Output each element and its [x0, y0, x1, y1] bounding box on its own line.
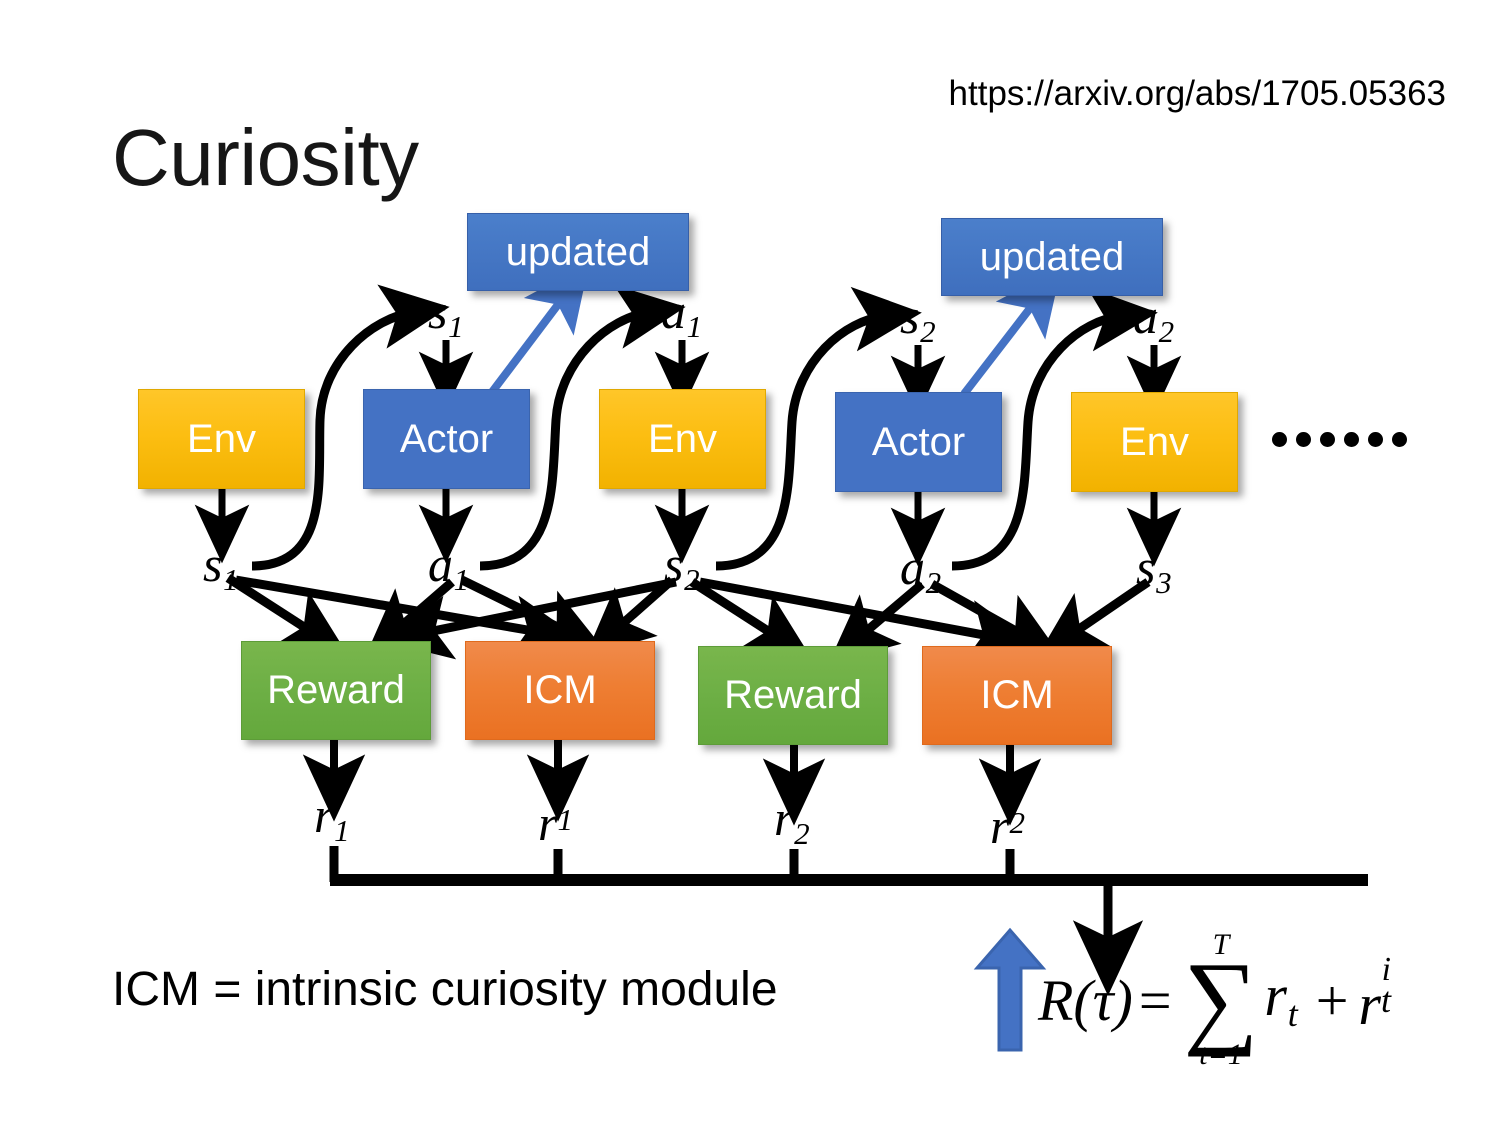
return-formula: R(τ) = T ∑ t=1 rt + rit: [1038, 930, 1405, 1070]
ellipsis-dot: [1344, 432, 1359, 447]
emphasis-up-arrow-icon: [977, 930, 1043, 1050]
ellipsis-dot: [1392, 432, 1407, 447]
formula-equals: =: [1133, 967, 1178, 1034]
legend-caption: ICM = intrinsic curiosity module: [112, 962, 778, 1017]
formula-term-intrinsic: rit: [1358, 966, 1405, 1034]
label-s2-mid: s2: [664, 539, 700, 595]
ellipsis-dot: [1272, 432, 1287, 447]
page-title: Curiosity: [112, 118, 419, 198]
slide-canvas: https://arxiv.org/abs/1705.05363 Curiosi…: [0, 0, 1500, 1125]
label-s1-top: s1: [428, 286, 464, 342]
ellipsis-dot: [1296, 432, 1311, 447]
label-s1-mid: s1: [203, 539, 239, 595]
formula-term-extrinsic: rt: [1264, 967, 1297, 1033]
label-r2-intrinsic: ri2: [990, 793, 1030, 851]
label-a1-mid: a1: [428, 539, 469, 595]
source-url[interactable]: https://arxiv.org/abs/1705.05363: [949, 74, 1446, 114]
label-s3-mid: s3: [1136, 542, 1172, 598]
ellipsis-dot: [1368, 432, 1383, 447]
label-a1-top: a1: [661, 286, 702, 342]
label-a2-mid: a2: [900, 542, 941, 598]
node-icm-2[interactable]: ICM: [922, 646, 1112, 745]
node-env-2[interactable]: Env: [599, 389, 766, 489]
label-r1-intrinsic: ri1: [538, 790, 578, 848]
node-actor-1[interactable]: Actor: [363, 389, 530, 489]
label-r1: r1: [314, 790, 350, 846]
summation-operator: T ∑ t=1: [1184, 930, 1259, 1070]
ellipsis-dots: [1272, 432, 1407, 447]
node-icm-1[interactable]: ICM: [465, 641, 655, 740]
label-s2-top: s2: [900, 291, 936, 347]
formula-lhs: R(τ): [1038, 967, 1133, 1034]
ellipsis-dot: [1320, 432, 1335, 447]
label-r2: r2: [774, 793, 810, 849]
sum-lower-limit: t=1: [1199, 1040, 1243, 1070]
node-actor-2[interactable]: Actor: [835, 392, 1002, 492]
sigma-icon: ∑: [1184, 954, 1259, 1044]
node-updated-2[interactable]: updated: [941, 218, 1163, 296]
node-reward-1[interactable]: Reward: [241, 641, 431, 740]
node-updated-1[interactable]: updated: [467, 213, 689, 291]
node-env-3[interactable]: Env: [1071, 392, 1238, 492]
node-env-1[interactable]: Env: [138, 389, 305, 489]
node-reward-2[interactable]: Reward: [698, 646, 888, 745]
label-a2-top: a2: [1133, 291, 1174, 347]
formula-plus: +: [1298, 967, 1359, 1034]
